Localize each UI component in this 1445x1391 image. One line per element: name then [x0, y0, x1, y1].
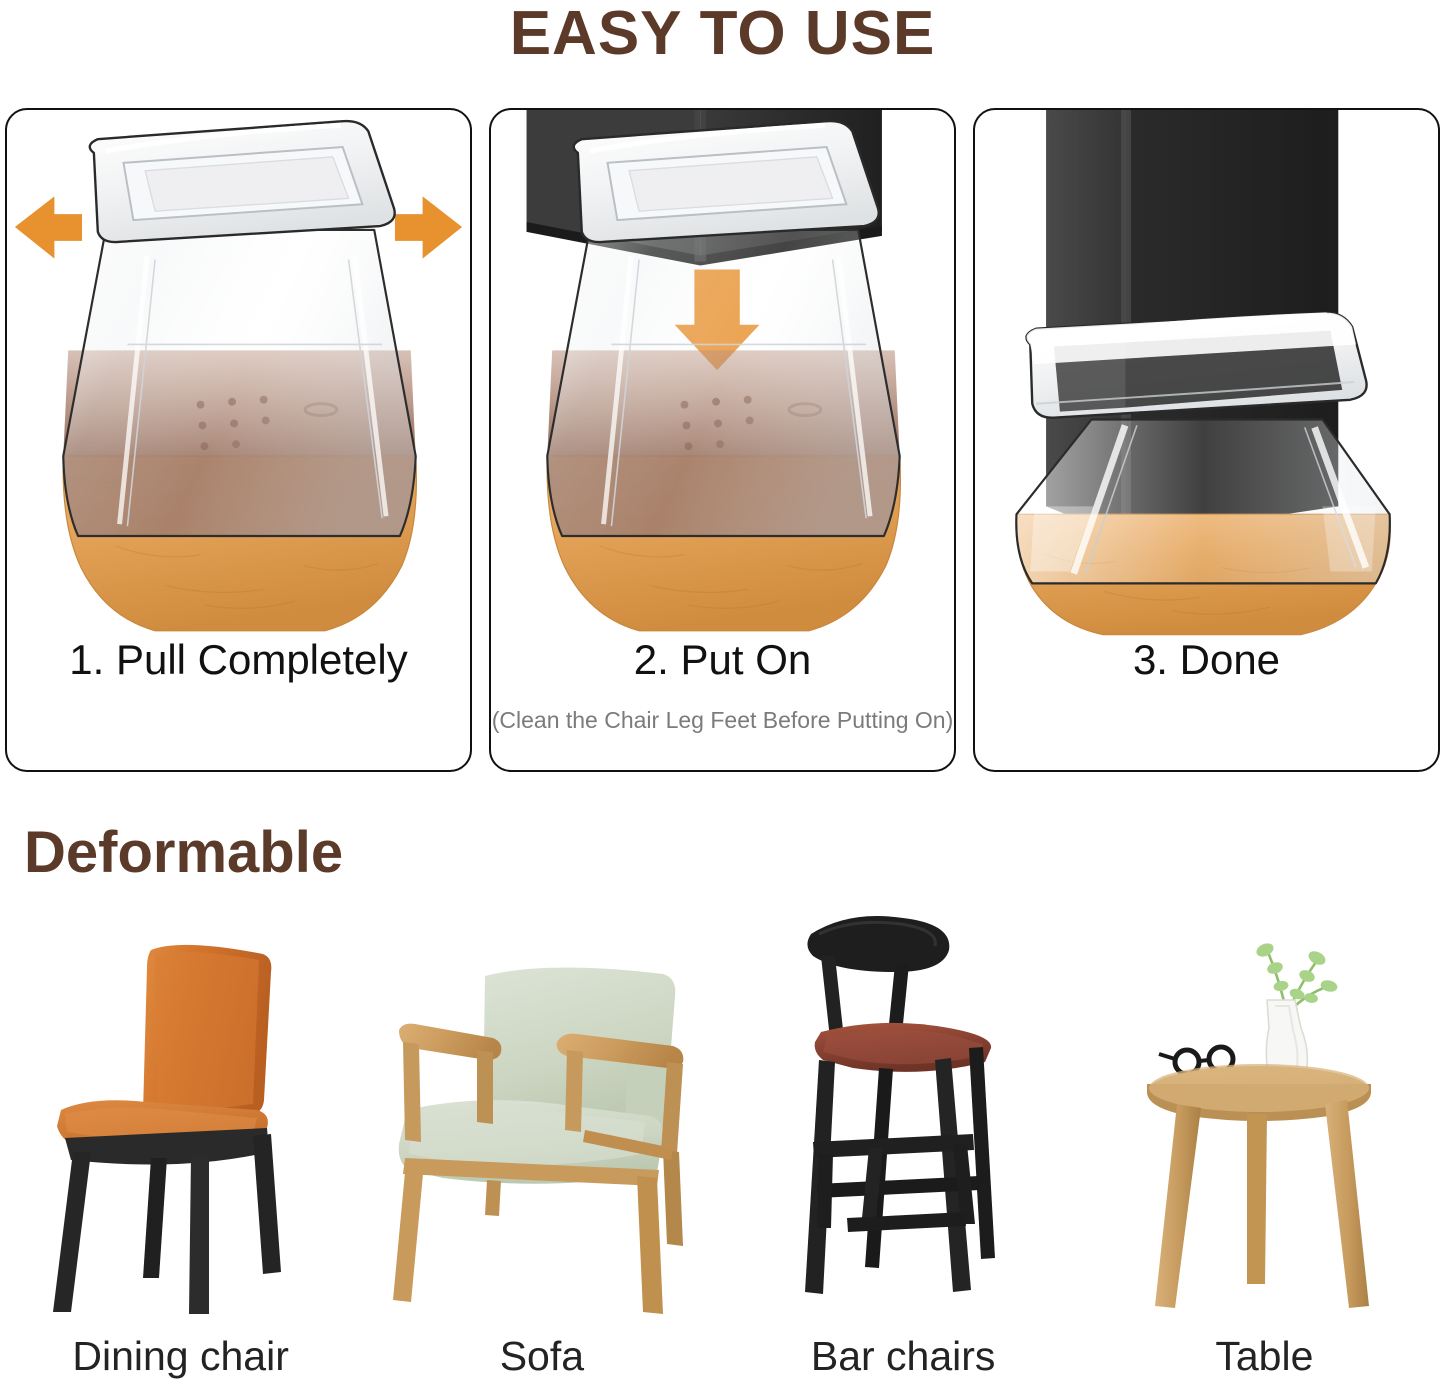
sofa-illustration — [377, 958, 707, 1328]
furniture-item-table — [1084, 898, 1445, 1328]
arrow-left-icon — [15, 196, 82, 258]
furniture-label-table: Table — [1084, 1330, 1445, 1391]
arrow-right-icon — [395, 196, 462, 258]
step-1-illustration — [7, 110, 470, 652]
furniture-label-dining-chair: Dining chair — [0, 1330, 361, 1391]
dining-chair-illustration — [31, 928, 331, 1328]
side-table-illustration — [1129, 928, 1399, 1328]
furniture-label-bar-chairs: Bar chairs — [723, 1330, 1084, 1391]
step-1-caption: 1. Pull Completely — [7, 636, 470, 684]
section-title-deformable: Deformable — [24, 818, 343, 888]
furniture-item-dining-chair — [0, 898, 361, 1328]
furniture-labels: Dining chair Sofa Bar chairs Table — [0, 1330, 1445, 1391]
furniture-item-sofa — [361, 898, 722, 1328]
page-title: EASY TO USE — [0, 0, 1445, 70]
steps-row: 1. Pull Completely — [5, 108, 1440, 772]
step-panel-3: 3. Done — [973, 108, 1440, 772]
step-panel-2: 2. Put On (Clean the Chair Leg Feet Befo… — [489, 108, 956, 772]
furniture-row — [0, 898, 1445, 1328]
step-3-caption: 3. Done — [975, 636, 1438, 684]
furniture-item-bar-chairs — [723, 898, 1084, 1328]
step-2-caption: 2. Put On — [491, 636, 954, 684]
furniture-label-sofa: Sofa — [361, 1330, 722, 1391]
step-2-illustration — [491, 110, 954, 652]
step-2-subcaption: (Clean the Chair Leg Feet Before Putting… — [483, 706, 962, 734]
bar-stool-illustration — [783, 898, 1023, 1328]
step-3-illustration — [975, 110, 1438, 652]
step-panel-1: 1. Pull Completely — [5, 108, 472, 772]
